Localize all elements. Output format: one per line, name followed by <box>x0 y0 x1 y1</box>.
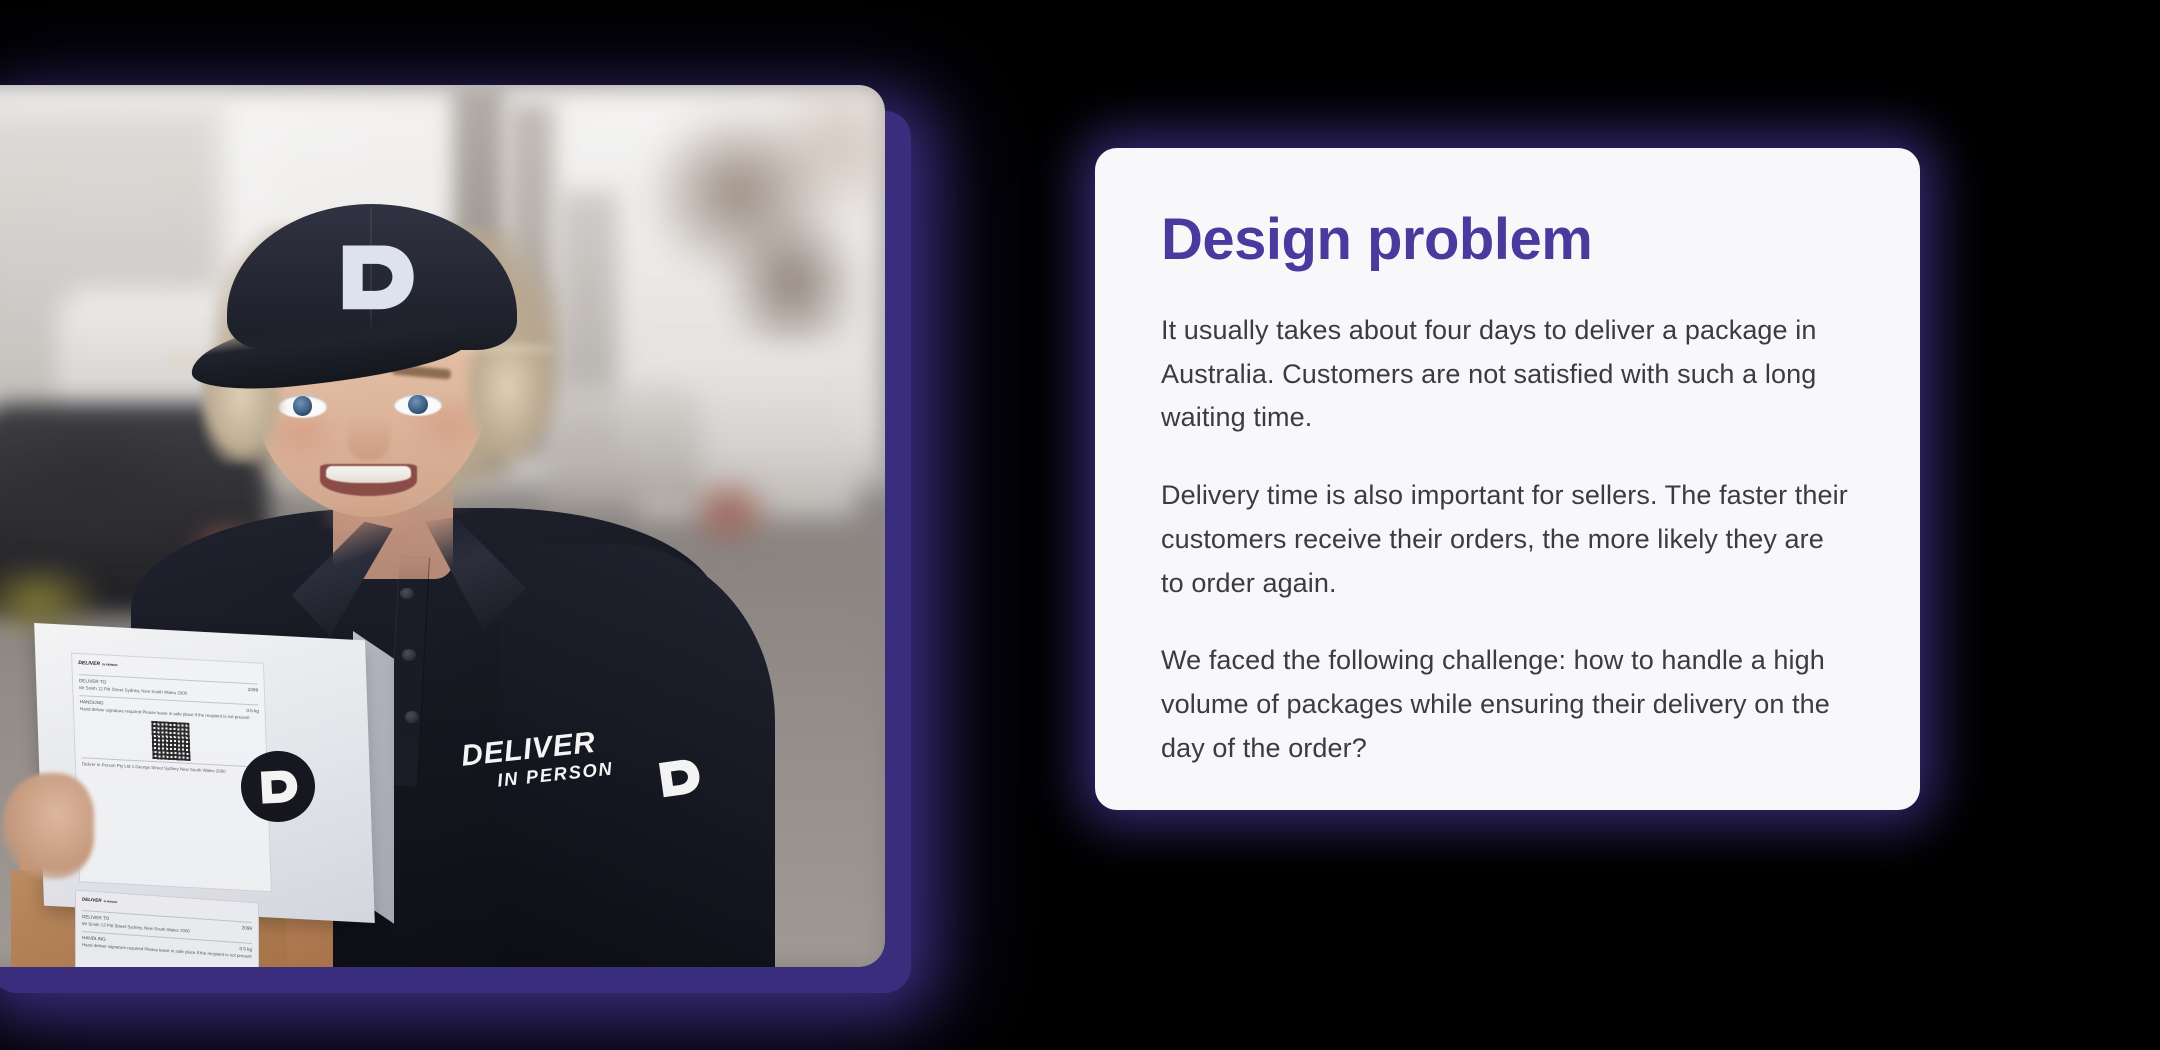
shipping-label-bottom: DELIVER IN PERSON DELIVER TO 2099 Mr Smi… <box>75 890 259 967</box>
shirt-button-1 <box>400 588 414 599</box>
paragraph-1: It usually takes about four days to deli… <box>1161 309 1854 440</box>
design-problem-card: Design problem It usually takes about fo… <box>1095 148 1920 810</box>
label2-tagline: IN PERSON <box>104 901 118 905</box>
courier-photo: DELIVER IN PERSON DE <box>0 85 885 967</box>
courier-photo-panel: DELIVER IN PERSON DE <box>0 85 885 967</box>
label-row2-right: 0.5 kg <box>247 708 260 714</box>
label-footer-block: Deliver In Person Pty Ltd 1 George Stree… <box>79 761 264 779</box>
label2-wordmark: DELIVER <box>82 897 102 903</box>
slide-canvas: DELIVER IN PERSON DE <box>0 0 2160 1050</box>
shirt-button-2 <box>402 649 416 660</box>
design-problem-card-wrapper: Design problem It usually takes about fo… <box>1095 148 1920 810</box>
paragraph-3: We faced the following challenge: how to… <box>1161 639 1854 770</box>
card-body: It usually takes about four days to deli… <box>1161 309 1854 771</box>
qr-code-icon <box>151 721 190 761</box>
paragraph-2: Delivery time is also important for sell… <box>1161 474 1854 605</box>
hand <box>2 773 94 879</box>
label-wordmark: DELIVER <box>79 660 101 667</box>
cap-monogram-d-icon <box>328 237 420 316</box>
sleeve-monogram-d-icon <box>652 748 705 807</box>
courier-subject: DELIVER IN PERSON DE <box>0 85 885 967</box>
label-row1-right: 2099 <box>248 687 258 693</box>
label-tagline: IN PERSON <box>103 663 119 668</box>
page-title: Design problem <box>1161 210 1854 271</box>
shirt-button-3 <box>405 711 419 722</box>
